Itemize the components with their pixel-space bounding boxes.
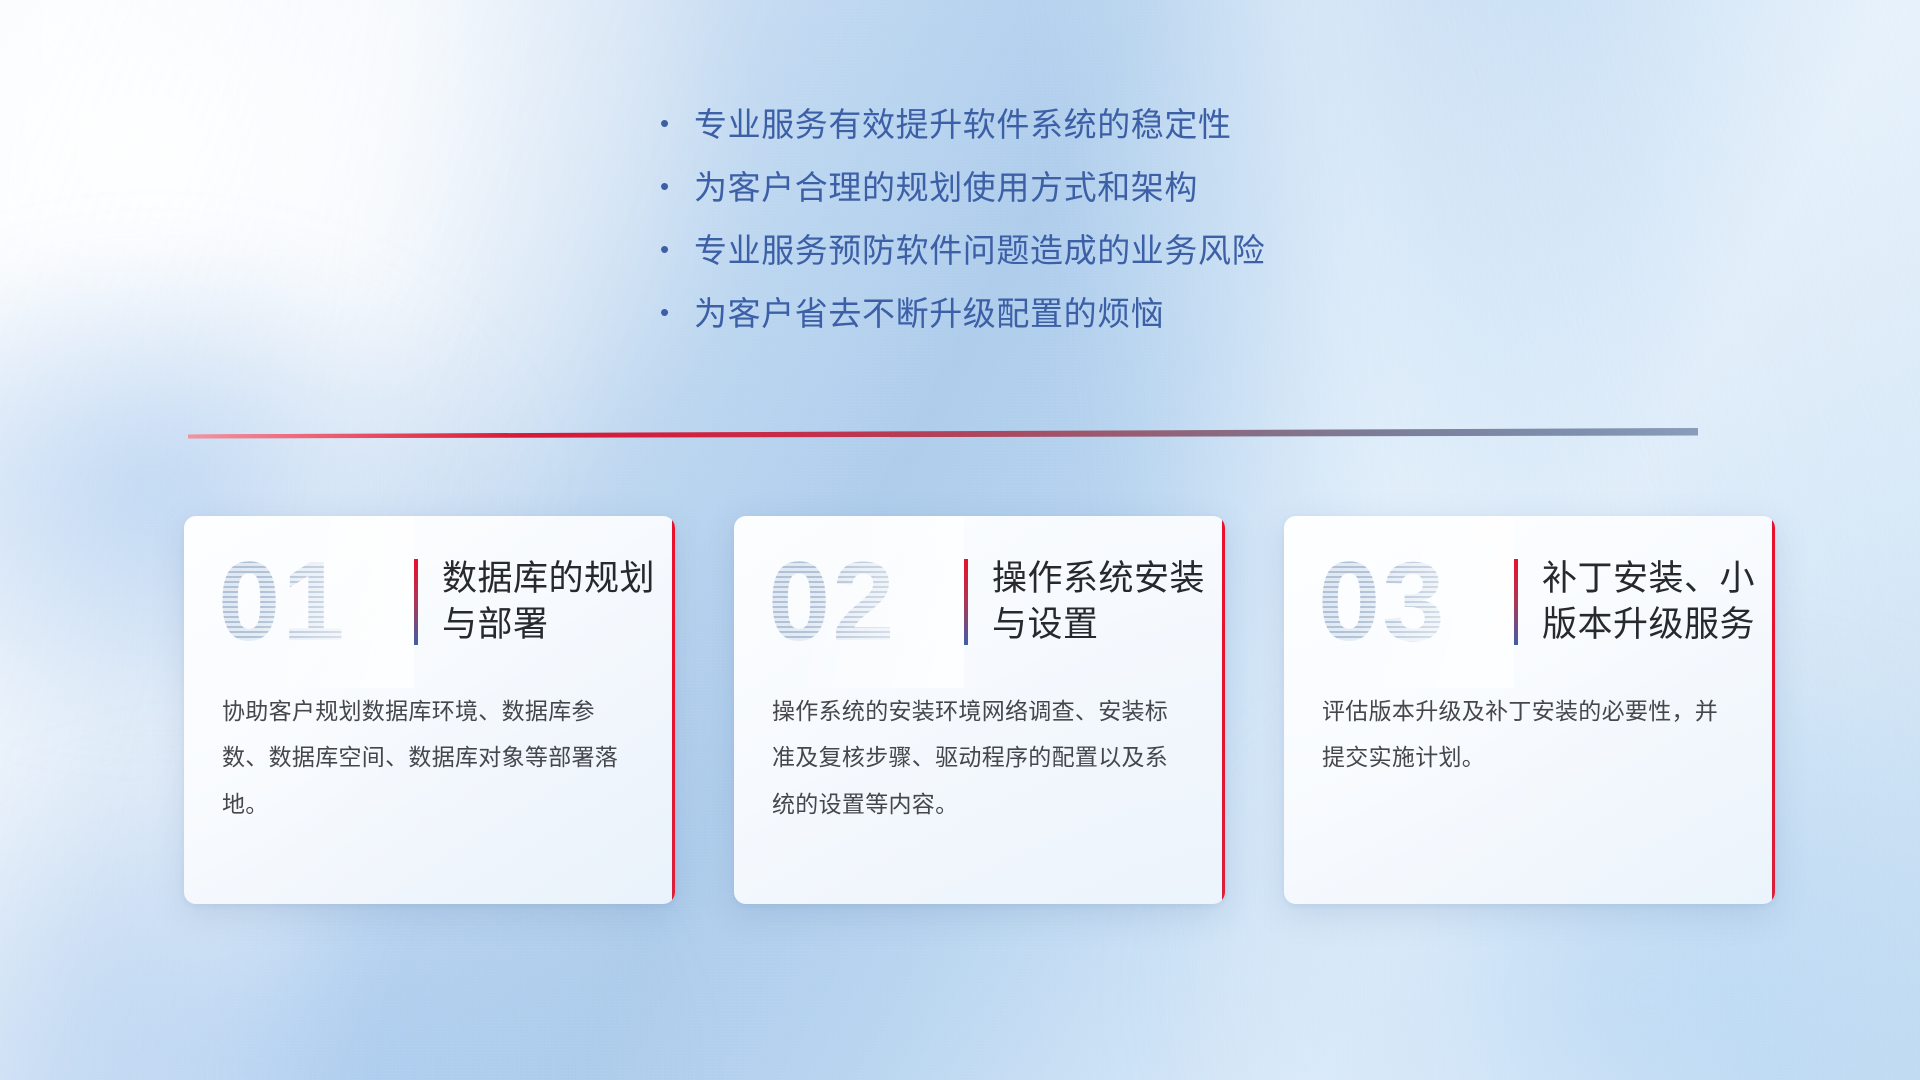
bullet-text: 为客户合理的规划使用方式和架构 <box>694 171 1198 204</box>
card-title-divider <box>414 559 418 645</box>
card-title-line: 数据库的规划 <box>442 556 655 602</box>
card-number-watermark: 03 <box>1318 546 1514 658</box>
bullet-dot-icon: • <box>660 173 694 199</box>
card-title-line: 操作系统安装 <box>992 556 1205 602</box>
card-number-watermark: 01 <box>218 546 414 658</box>
card-title-line: 补丁安装、小 <box>1542 556 1755 602</box>
list-item: • 为客户合理的规划使用方式和架构 <box>660 171 1420 204</box>
service-card[interactable]: 02 操作系统安装 与设置 操作系统的安装环境网络调查、安装标准及复核步骤、驱动… <box>734 516 1225 904</box>
bullet-dot-icon: • <box>660 110 694 136</box>
section-divider <box>188 424 1698 442</box>
card-header: 01 数据库的规划 与部署 <box>184 516 675 688</box>
card-body-text: 协助客户规划数据库环境、数据库参数、数据库空间、数据库对象等部署落地。 <box>184 688 675 827</box>
bullet-text: 专业服务有效提升软件系统的稳定性 <box>694 108 1232 141</box>
bullet-dot-icon: • <box>660 236 694 262</box>
card-header: 03 补丁安装、小 版本升级服务 <box>1284 516 1775 688</box>
list-item: • 专业服务预防软件问题造成的业务风险 <box>660 234 1420 267</box>
divider-highlight <box>188 424 1698 442</box>
service-card[interactable]: 03 补丁安装、小 版本升级服务 评估版本升级及补丁安装的必要性，并提交实施计划… <box>1284 516 1775 904</box>
benefits-bullet-list: • 专业服务有效提升软件系统的稳定性 • 为客户合理的规划使用方式和架构 • 专… <box>660 108 1420 360</box>
card-number-watermark: 02 <box>768 546 964 658</box>
card-title-line: 版本升级服务 <box>1542 602 1755 648</box>
card-title-divider <box>1514 559 1518 645</box>
card-title-line: 与设置 <box>992 602 1205 648</box>
bullet-text: 专业服务预防软件问题造成的业务风险 <box>694 234 1265 267</box>
card-title: 补丁安装、小 版本升级服务 <box>1542 556 1755 648</box>
bullet-dot-icon: • <box>660 299 694 325</box>
card-body-text: 操作系统的安装环境网络调查、安装标准及复核步骤、驱动程序的配置以及系统的设置等内… <box>734 688 1225 827</box>
card-title-divider <box>964 559 968 645</box>
card-header: 02 操作系统安装 与设置 <box>734 516 1225 688</box>
list-item: • 专业服务有效提升软件系统的稳定性 <box>660 108 1420 141</box>
card-title: 数据库的规划 与部署 <box>442 556 655 648</box>
list-item: • 为客户省去不断升级配置的烦恼 <box>660 297 1420 330</box>
service-card[interactable]: 01 数据库的规划 与部署 协助客户规划数据库环境、数据库参数、数据库空间、数据… <box>184 516 675 904</box>
service-card-list: 01 数据库的规划 与部署 协助客户规划数据库环境、数据库参数、数据库空间、数据… <box>184 516 1775 904</box>
card-title-line: 与部署 <box>442 602 655 648</box>
card-body-text: 评估版本升级及补丁安装的必要性，并提交实施计划。 <box>1284 688 1775 781</box>
bullet-text: 为客户省去不断升级配置的烦恼 <box>694 297 1164 330</box>
card-title: 操作系统安装 与设置 <box>992 556 1205 648</box>
